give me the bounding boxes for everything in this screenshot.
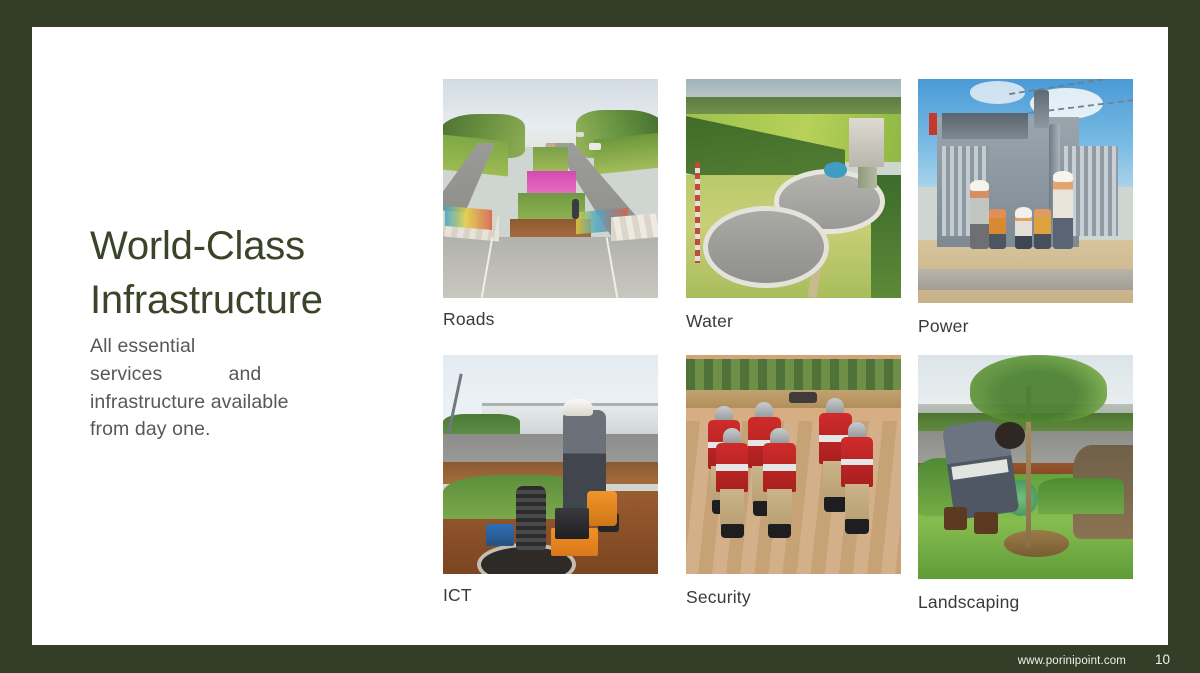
slide-canvas: World-Class Infrastructure All essential… — [32, 27, 1168, 645]
gallery-label-landscaping: Landscaping — [918, 594, 1133, 612]
landscaping-photo — [918, 355, 1133, 579]
water-photo — [686, 79, 901, 298]
gallery-item-power[interactable]: Power — [918, 79, 1133, 336]
gallery-label-roads: Roads — [443, 311, 658, 329]
slide-page-number: 10 — [1152, 652, 1170, 667]
gallery-label-water: Water — [686, 313, 901, 331]
slide-body-text: All essential services and infrastructur… — [90, 333, 400, 444]
text-column: World-Class Infrastructure All essential… — [90, 220, 400, 444]
gallery-item-ict[interactable]: ICT — [443, 355, 658, 605]
gallery-item-landscaping[interactable]: Landscaping — [918, 355, 1133, 612]
security-photo — [686, 355, 901, 574]
gallery-item-roads[interactable]: Roads — [443, 79, 658, 329]
footer-website-url[interactable]: www.porinipoint.com — [1018, 655, 1126, 667]
gallery-label-ict: ICT — [443, 587, 658, 605]
gallery-row-2: ICT Security — [443, 355, 1143, 631]
gallery-item-security[interactable]: Security — [686, 355, 901, 607]
presentation-slide: World-Class Infrastructure All essential… — [0, 0, 1200, 673]
page-title: World-Class Infrastructure — [90, 220, 400, 327]
power-photo — [918, 79, 1133, 303]
ict-photo — [443, 355, 658, 574]
gallery-label-power: Power — [918, 318, 1133, 336]
infrastructure-gallery: Roads Water — [443, 79, 1143, 631]
gallery-item-water[interactable]: Water — [686, 79, 901, 331]
gallery-row-1: Roads Water — [443, 79, 1143, 355]
roads-photo — [443, 79, 658, 298]
gallery-label-security: Security — [686, 589, 901, 607]
slide-footer: www.porinipoint.com 10 — [1018, 652, 1170, 667]
